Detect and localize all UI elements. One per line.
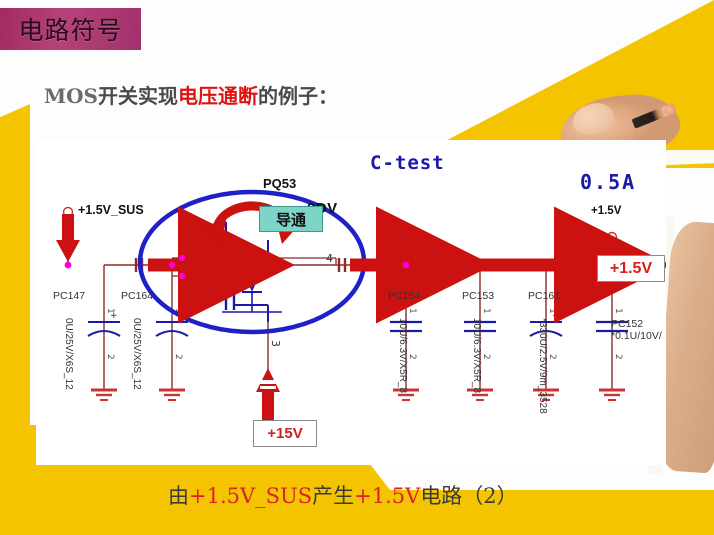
svg-text:1: 1 xyxy=(202,281,209,294)
slide-subtitle: MOS开关实现电压通断的例子： xyxy=(44,80,338,109)
subtitle-part-switch: 开关实现 xyxy=(98,84,178,108)
svg-text:2: 2 xyxy=(547,354,557,360)
input-rail-label: +1.5V_SUS xyxy=(78,203,144,217)
ref-pc164: PC164 xyxy=(121,290,153,302)
ref-pc161: PC161 xyxy=(528,290,560,302)
gate-supply-box: +15V xyxy=(253,420,317,447)
junction-dot xyxy=(179,255,185,261)
svg-text:1: 1 xyxy=(613,308,623,314)
svg-text:5: 5 xyxy=(202,245,209,258)
value-pc164: 0U/25V/X6S_12 xyxy=(131,318,142,390)
mosfet-ref-label: PQ53 xyxy=(263,176,296,191)
caption-target-rail: +1.5V xyxy=(354,484,420,508)
svg-text:2: 2 xyxy=(105,354,115,360)
output-voltage-box: +1.5V xyxy=(597,255,665,282)
svg-text:1: 1 xyxy=(481,308,491,314)
ground-icon xyxy=(159,390,185,400)
mosfet-pq53 xyxy=(222,222,282,322)
circuit-schematic: + + + xyxy=(36,140,666,465)
subtitle-part-mos: MOS xyxy=(44,84,98,108)
svg-text:2: 2 xyxy=(407,354,417,360)
svg-text:1: 1 xyxy=(407,308,417,314)
output-test-point xyxy=(608,233,617,242)
slide-title-text: 电路符号 xyxy=(18,11,122,47)
ground-icon xyxy=(91,390,117,400)
junction-dot xyxy=(65,262,72,269)
output-rail-label: +1.5V xyxy=(591,205,621,217)
subtitle-part-highlight: 电压通断 xyxy=(178,84,258,108)
junction-dot xyxy=(403,262,410,269)
value-pc154: 10U/6.3V/X5R_8 xyxy=(397,318,408,393)
caption-source-rail: +1.5V_SUS xyxy=(189,484,312,508)
slide-title-chip: 电路符号 xyxy=(0,8,141,50)
body-diode-icon xyxy=(242,268,262,290)
ref-pc154: PC154 xyxy=(388,290,420,302)
ref-pc153: PC153 xyxy=(462,290,494,302)
svg-text:1: 1 xyxy=(105,308,115,314)
value-pc147: 0U/25V/X6S_12 xyxy=(63,318,74,390)
value-pc152: *0.1U/10V/ xyxy=(611,330,662,342)
caption-pre: 由 xyxy=(168,484,189,508)
mosfet-pin3-label: 3 xyxy=(269,340,282,347)
ground-icon xyxy=(599,390,625,400)
subtitle-part-example: 的例子： xyxy=(258,84,338,108)
ref-pc147: PC147 xyxy=(53,290,85,302)
slide-caption: 由+1.5V_SUS产生+1.5V电路（2） xyxy=(168,480,518,510)
caption-mid: 产生 xyxy=(312,484,354,508)
conducting-state-badge: 导通 xyxy=(259,206,323,232)
junction-dot xyxy=(179,273,185,279)
svg-text:2: 2 xyxy=(173,354,183,360)
svg-text:1: 1 xyxy=(547,308,557,314)
current-label: 0.5A xyxy=(580,170,636,194)
ref-pc152: PC152 xyxy=(611,318,643,330)
value-pc161: *330U/2.5V/9m_3528 xyxy=(537,318,548,414)
junction-dot xyxy=(169,262,175,268)
input-down-arrow xyxy=(56,208,80,266)
svg-text:2: 2 xyxy=(481,354,491,360)
slide-canvas: 电路符号 MOS开关实现电压通断的例子： xyxy=(0,0,714,535)
value-pc153: 10U/6.3V/X5R_8 xyxy=(471,318,482,393)
svg-text:2: 2 xyxy=(613,354,623,360)
caption-post: 电路（2） xyxy=(420,484,517,508)
c-test-label: C-test xyxy=(370,152,445,174)
